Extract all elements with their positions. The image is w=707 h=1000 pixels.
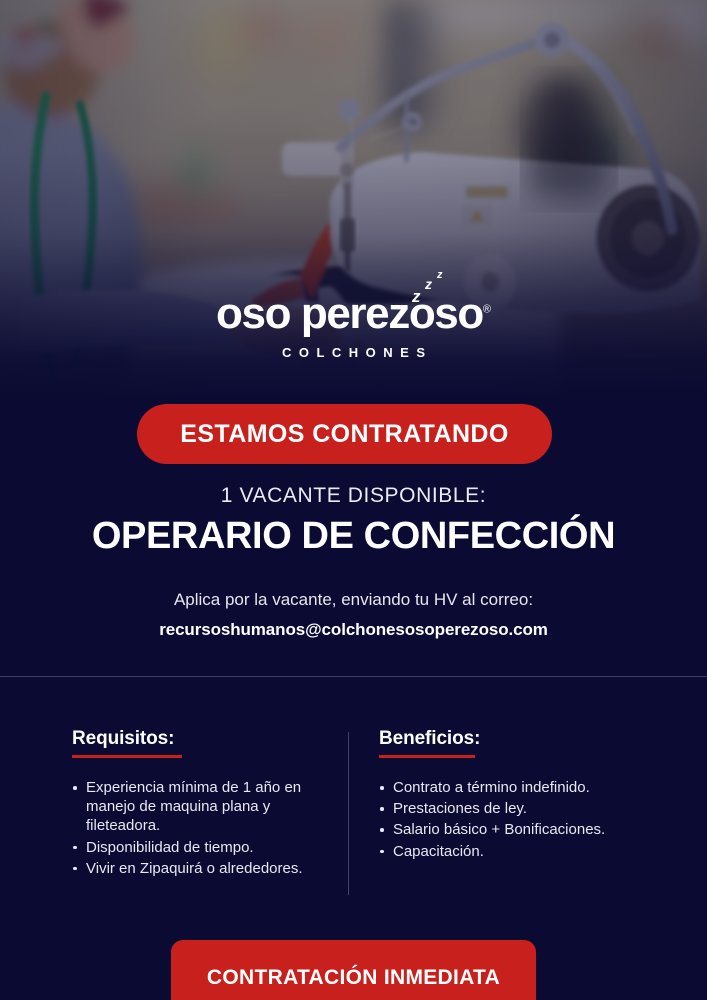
brand-tagline: COLCHONES xyxy=(0,345,707,360)
job-posting-poster: oso perezoso® z z z COLCHONES ESTAMOS CO… xyxy=(0,0,707,1000)
list-item: Salario básico + Bonificaciones. xyxy=(379,820,687,839)
list-item: Experiencia mínima de 1 año en manejo de… xyxy=(72,778,332,836)
requirements-heading-rule xyxy=(72,755,182,758)
list-item: Prestaciones de ley. xyxy=(379,799,687,818)
hiring-banner-label: ESTAMOS CONTRATANDO xyxy=(180,420,508,449)
requirements-heading: Requisitos: xyxy=(72,728,332,750)
list-item: Capacitación. xyxy=(379,842,687,861)
brand-wordmark: oso perezoso® z z z xyxy=(216,292,491,336)
vacancy-count-line: 1 VACANTE DISPONIBLE: xyxy=(0,484,707,508)
apply-instruction: Aplica por la vacante, enviando tu HV al… xyxy=(0,590,707,610)
benefits-heading-rule xyxy=(379,755,475,758)
section-divider-horizontal xyxy=(0,676,707,677)
list-item: Contrato a término indefinido. xyxy=(379,778,687,797)
list-item: Vivir en Zipaquirá o alrededores. xyxy=(72,859,332,878)
apply-email[interactable]: recursoshumanos@colchonesosoperezoso.com xyxy=(0,620,707,640)
job-title: OPERARIO DE CONFECCIÓN xyxy=(0,515,707,558)
list-item: Disponibilidad de tiempo. xyxy=(72,838,332,857)
registered-trademark-icon: ® xyxy=(483,303,491,315)
hiring-banner: ESTAMOS CONTRATANDO xyxy=(137,404,552,464)
benefits-heading: Beneficios: xyxy=(379,728,687,750)
benefits-column: Beneficios: Contrato a término indefinid… xyxy=(348,728,707,880)
requirements-column: Requisitos: Experiencia mínima de 1 año … xyxy=(0,728,348,880)
requirements-list: Experiencia mínima de 1 año en manejo de… xyxy=(72,778,332,878)
immediate-hiring-cta-button[interactable]: CONTRATACIÓN INMEDIATA xyxy=(171,940,536,1000)
details-columns: Requisitos: Experiencia mínima de 1 año … xyxy=(0,728,707,880)
benefits-list: Contrato a término indefinido. Prestacio… xyxy=(379,778,687,861)
brand-wordmark-text: oso perezoso xyxy=(216,289,483,338)
brand-logo: oso perezoso® z z z COLCHONES xyxy=(0,292,707,360)
immediate-hiring-cta-label: CONTRATACIÓN INMEDIATA xyxy=(207,966,500,990)
